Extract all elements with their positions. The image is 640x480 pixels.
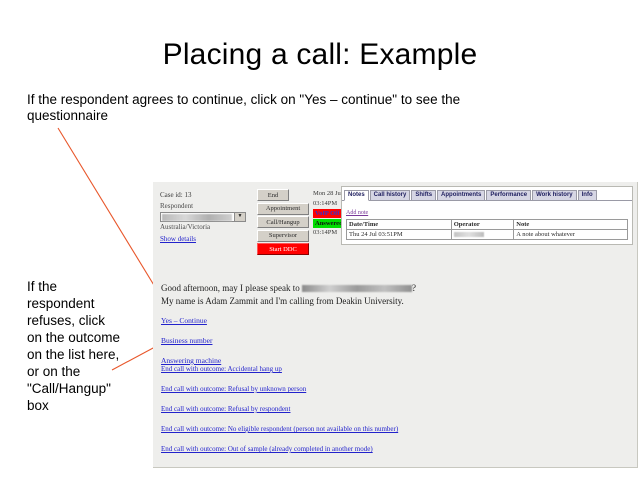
application-screenshot: Case id: 13 Respondent ▼ Australia/Victo… bbox=[153, 182, 638, 468]
tab-appointments[interactable]: Appointments bbox=[437, 190, 485, 201]
answered-status-badge: Answered bbox=[313, 219, 345, 228]
respondent-select[interactable]: ▼ bbox=[160, 212, 246, 222]
cell-datetime: Thu 24 Jul 03:51PM bbox=[347, 230, 452, 240]
tab-strip: Notes Call history Shifts Appointments P… bbox=[342, 189, 632, 201]
respondent-label: Respondent bbox=[160, 201, 255, 212]
notes-table: Date/Time Operator Note Thu 24 Jul 03:51… bbox=[346, 219, 628, 240]
tab-performance[interactable]: Performance bbox=[486, 190, 531, 201]
link-outcome-accidental-hangup[interactable]: End call with outcome: Accidental hang u… bbox=[161, 365, 501, 373]
call-hangup-button[interactable]: Call/Hangup bbox=[257, 216, 309, 228]
region-label: Australia/Victoria bbox=[160, 222, 255, 233]
column-header-operator: Operator bbox=[451, 220, 514, 230]
column-header-datetime: Date/Time bbox=[347, 220, 452, 230]
tab-shifts[interactable]: Shifts bbox=[411, 190, 436, 201]
script-line-1: Good afternoon, may I please speak to ? bbox=[161, 282, 621, 295]
link-outcome-no-eligible-respondent[interactable]: End call with outcome: No eligible respo… bbox=[161, 425, 501, 433]
script-line-2: My name is Adam Zammit and I'm calling f… bbox=[161, 295, 621, 308]
case-info-block: Case id: 13 Respondent ▼ Australia/Victo… bbox=[160, 190, 255, 244]
script-line-1-after: ? bbox=[412, 283, 416, 293]
link-outcome-out-of-sample[interactable]: End call with outcome: Out of sample (al… bbox=[161, 445, 501, 453]
table-header-row: Date/Time Operator Note bbox=[347, 220, 628, 230]
link-business-number[interactable]: Business number bbox=[161, 336, 461, 345]
arrow-to-script bbox=[58, 128, 163, 300]
link-yes-continue[interactable]: Yes – Continue bbox=[161, 316, 461, 325]
appointment-button[interactable]: Appointment bbox=[257, 203, 309, 215]
annotation-continue-text: If the respondent agrees to continue, cl… bbox=[27, 92, 497, 124]
link-outcome-refusal-respondent[interactable]: End call with outcome: Refusal by respon… bbox=[161, 405, 501, 413]
link-answering-machine[interactable]: Answering machine bbox=[161, 356, 461, 365]
cell-operator bbox=[451, 230, 514, 240]
call-control-buttons: End Appointment Call/Hangup Supervisor S… bbox=[257, 189, 309, 257]
tab-work-history[interactable]: Work history bbox=[532, 190, 577, 201]
add-note-link[interactable]: Add note bbox=[346, 210, 368, 216]
chevron-down-icon[interactable]: ▼ bbox=[234, 213, 245, 221]
case-id-label: Case id: 13 bbox=[160, 190, 255, 201]
end-button[interactable]: End bbox=[257, 189, 289, 201]
tab-call-history[interactable]: Call history bbox=[370, 190, 411, 201]
respondent-name-redacted bbox=[302, 285, 412, 292]
respondent-value-redacted bbox=[162, 214, 232, 221]
start-ddc-button[interactable]: Start DDC bbox=[257, 243, 309, 255]
column-header-note: Note bbox=[514, 220, 628, 230]
info-panel: Notes Call history Shifts Appointments P… bbox=[341, 186, 633, 245]
voip-status-badge: VoIP Off bbox=[313, 209, 342, 218]
call-script-text: Good afternoon, may I please speak to ? … bbox=[161, 282, 621, 307]
show-details-link[interactable]: Show details bbox=[160, 234, 196, 245]
operator-redacted bbox=[454, 232, 484, 237]
page-title: Placing a call: Example bbox=[0, 38, 640, 72]
link-outcome-refusal-unknown-person[interactable]: End call with outcome: Refusal by unknow… bbox=[161, 385, 501, 393]
supervisor-button[interactable]: Supervisor bbox=[257, 230, 309, 242]
cell-note: A note about whatever bbox=[514, 230, 628, 240]
script-line-1-before: Good afternoon, may I please speak to bbox=[161, 283, 300, 293]
annotation-refuse-text: If the respondent refuses, click on the … bbox=[27, 278, 123, 414]
tab-info[interactable]: Info bbox=[578, 190, 597, 201]
outcome-links-list: End call with outcome: Accidental hang u… bbox=[161, 365, 501, 465]
table-row: Thu 24 Jul 03:51PM A note about whatever bbox=[347, 230, 628, 240]
tab-notes[interactable]: Notes bbox=[344, 190, 369, 202]
